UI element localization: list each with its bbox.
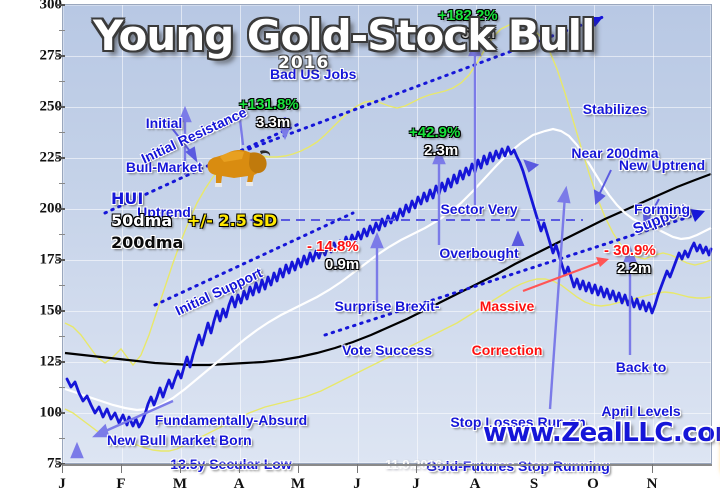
annotation-surprise-brexit: Surprise Brexit- Vote Success bbox=[321, 270, 453, 388]
plot-area: Initial Bull-Market Uptrend Initial Resi… bbox=[62, 4, 712, 464]
x-tick-label: A bbox=[470, 476, 481, 493]
y-tick-label: 75 bbox=[10, 456, 62, 473]
annotation-new-uptrend-forming: New Uptrend Forming bbox=[601, 129, 720, 247]
y-tick bbox=[56, 208, 65, 210]
y-minor-tick bbox=[59, 132, 65, 133]
annotation-line: Forming bbox=[601, 202, 720, 217]
annotation-line: Stabilizes bbox=[551, 102, 679, 117]
annotation-line: Correction bbox=[449, 343, 565, 358]
bull-head bbox=[249, 152, 267, 173]
annotation-line: Vote Success bbox=[321, 343, 453, 358]
website-url[interactable]: www.ZealLLC.com bbox=[483, 418, 720, 448]
y-tick-label: 200 bbox=[10, 201, 62, 218]
y-tick-label: 225 bbox=[10, 150, 62, 167]
y-tick bbox=[56, 412, 65, 414]
annotation-gain-42-percent: +42.9% bbox=[409, 125, 460, 141]
annotation-line: Massive bbox=[449, 299, 565, 314]
x-tick bbox=[534, 464, 535, 473]
y-tick-label: 100 bbox=[10, 405, 62, 422]
x-tick-label: O bbox=[587, 476, 599, 493]
y-minor-tick bbox=[59, 234, 65, 235]
x-tick bbox=[121, 464, 122, 473]
y-tick bbox=[56, 4, 65, 6]
y-tick bbox=[56, 157, 65, 159]
pointer-new-uptrend-right-head bbox=[525, 161, 537, 171]
annotation-new-bull-market-born: New Bull Market Born bbox=[107, 433, 252, 448]
y-tick bbox=[56, 259, 65, 261]
annotation-gain-131-duration: 3.3m bbox=[256, 115, 290, 131]
x-tick-label: F bbox=[116, 476, 125, 493]
annotation-loss-14-percent: - 14.8% bbox=[307, 239, 359, 255]
annotation-line: Bull-Market bbox=[104, 160, 224, 175]
x-tick-label: A bbox=[234, 476, 245, 493]
annotation-line: New Uptrend bbox=[601, 158, 720, 173]
x-tick-label: M bbox=[173, 476, 187, 493]
x-tick-label: J bbox=[58, 476, 66, 493]
y-tick bbox=[56, 55, 65, 57]
x-axis: J F M A M J J A S O N bbox=[62, 464, 712, 504]
x-tick bbox=[239, 464, 240, 473]
y-tick-label: 275 bbox=[10, 48, 62, 65]
y-tick bbox=[56, 310, 65, 312]
legend-sd-bands: +/- 2.5 SD bbox=[187, 213, 277, 230]
x-tick bbox=[180, 464, 181, 473]
y-tick-label: 250 bbox=[10, 99, 62, 116]
annotation-line: Surprise Brexit- bbox=[321, 299, 453, 314]
x-tick-label: J bbox=[353, 476, 361, 493]
y-minor-tick bbox=[59, 438, 65, 439]
x-tick bbox=[298, 464, 299, 473]
x-tick-label: J bbox=[412, 476, 420, 493]
x-tick bbox=[652, 464, 653, 473]
annotation-loss-30-duration: 2.2m bbox=[617, 261, 651, 277]
x-tick-label: M bbox=[291, 476, 305, 493]
x-tick bbox=[475, 464, 476, 473]
chart-title: Young Gold-Stock Bull bbox=[93, 11, 594, 60]
y-tick-label: 300 bbox=[10, 0, 62, 14]
x-tick-label: S bbox=[530, 476, 538, 493]
legend-hui: HUI bbox=[111, 191, 143, 208]
annotation-line: Back to bbox=[591, 360, 691, 375]
x-tick bbox=[416, 464, 417, 473]
annotation-gain-131-percent: +131.8% bbox=[239, 97, 299, 113]
chart-screenshot: Initial Bull-Market Uptrend Initial Resi… bbox=[0, 0, 720, 504]
y-minor-tick bbox=[59, 387, 65, 388]
y-tick bbox=[56, 361, 65, 363]
x-tick bbox=[357, 464, 358, 473]
y-minor-tick bbox=[59, 336, 65, 337]
annotation-line: Fundamentally-Absurd bbox=[131, 413, 331, 428]
chart-subtitle: 2016 bbox=[278, 53, 329, 73]
annotation-line: Sector Very bbox=[425, 202, 533, 217]
y-tick-label: 150 bbox=[10, 303, 62, 320]
legend-50dma: 50dma bbox=[111, 213, 172, 230]
new-bull-up-arrow bbox=[72, 445, 82, 457]
y-axis: 300 275 250 225 200 175 150 125 100 75 bbox=[0, 0, 62, 504]
annotation-gain-42-duration: 2.3m bbox=[424, 143, 458, 159]
y-minor-tick bbox=[59, 81, 65, 82]
y-minor-tick bbox=[59, 285, 65, 286]
y-tick bbox=[56, 106, 65, 108]
bull-hoof-2 bbox=[246, 182, 253, 186]
y-tick-label: 175 bbox=[10, 252, 62, 269]
x-tick bbox=[593, 464, 594, 473]
y-tick-label: 125 bbox=[10, 354, 62, 371]
y-minor-tick bbox=[59, 30, 65, 31]
x-tick bbox=[62, 464, 63, 473]
measure-arrow-brexit-head bbox=[372, 235, 382, 247]
annotation-massive-correction: Massive Correction bbox=[449, 270, 565, 388]
x-tick-label: N bbox=[647, 476, 658, 493]
legend-200dma: 200dma bbox=[111, 235, 183, 252]
measure-arrow-stop-losses-head bbox=[559, 189, 569, 202]
y-minor-tick bbox=[59, 183, 65, 184]
annotation-line: Overbought bbox=[425, 246, 533, 261]
